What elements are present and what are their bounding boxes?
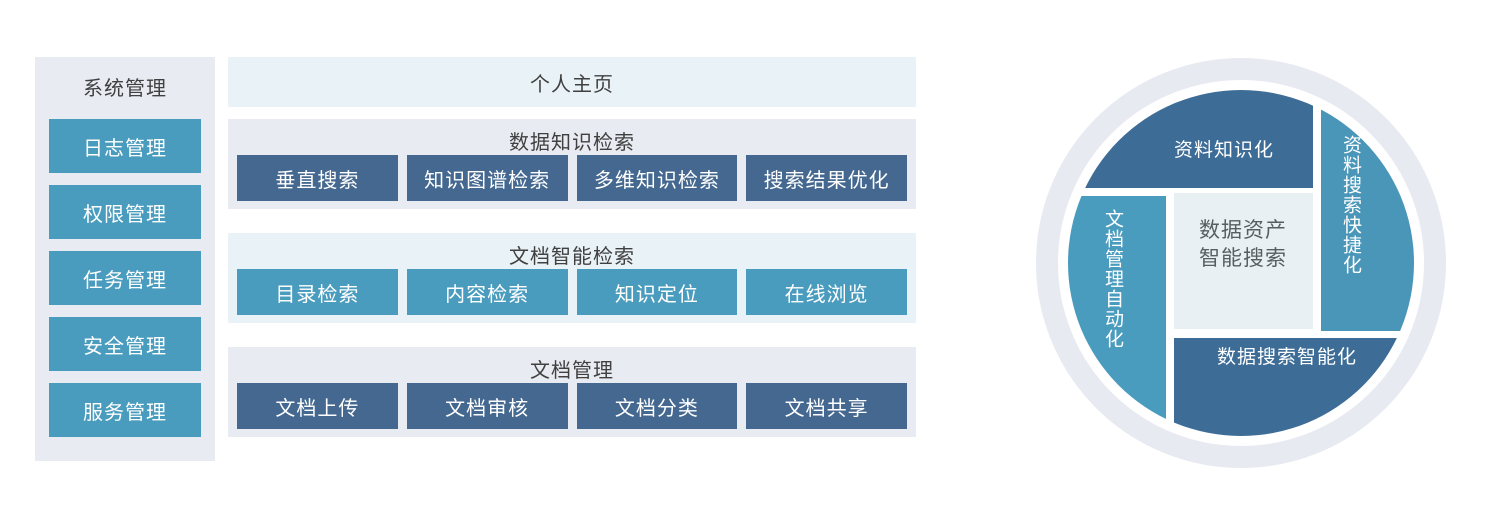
button-content-retrieval[interactable]: 内容检索 [407,269,568,315]
button-knowledge-graph-retrieval[interactable]: 知识图谱检索 [407,155,568,201]
sidebar-item-permission-management[interactable]: 权限管理 [49,185,201,239]
circular-diagram-svg [1035,57,1447,469]
button-document-sharing[interactable]: 文档共享 [746,383,907,429]
button-online-browsing[interactable]: 在线浏览 [746,269,907,315]
button-knowledge-positioning[interactable]: 知识定位 [577,269,738,315]
button-row: 目录检索 内容检索 知识定位 在线浏览 [228,269,916,324]
section-card-document-intelligent-retrieval: 文档智能检索 目录检索 内容检索 知识定位 在线浏览 [228,233,916,323]
button-catalog-retrieval[interactable]: 目录检索 [237,269,398,315]
button-document-classification[interactable]: 文档分类 [577,383,738,429]
sidebar-item-log-management[interactable]: 日志管理 [49,119,201,173]
button-document-review[interactable]: 文档审核 [407,383,568,429]
button-document-upload[interactable]: 文档上传 [237,383,398,429]
button-vertical-search[interactable]: 垂直搜索 [237,155,398,201]
section-card-data-knowledge-retrieval: 数据知识检索 垂直搜索 知识图谱检索 多维知识检索 搜索结果优化 [228,119,916,209]
button-row: 垂直搜索 知识图谱检索 多维知识检索 搜索结果优化 [228,155,916,210]
button-search-result-optimization[interactable]: 搜索结果优化 [746,155,907,201]
section-title: 文档智能检索 [228,240,916,269]
segment-center[interactable] [1174,193,1313,329]
sidebar-item-security-management[interactable]: 安全管理 [49,317,201,371]
sidebar-item-task-management[interactable]: 任务管理 [49,251,201,305]
sidebar-title: 系统管理 [49,71,201,107]
button-row: 文档上传 文档审核 文档分类 文档共享 [228,383,916,438]
sidebar-item-service-management[interactable]: 服务管理 [49,383,201,437]
personal-homepage-banner[interactable]: 个人主页 [228,57,916,107]
section-title: 文档管理 [228,354,916,383]
section-title: 数据知识检索 [228,126,916,155]
button-multidimensional-knowledge-retrieval[interactable]: 多维知识检索 [577,155,738,201]
sidebar-panel: 系统管理 日志管理 权限管理 任务管理 安全管理 服务管理 [35,57,215,461]
circular-diagram: 资料知识化 资料搜索快捷化 文档管理自动化 数据搜索智能化 数据资产 智能搜索 [1035,57,1447,469]
section-card-document-management: 文档管理 文档上传 文档审核 文档分类 文档共享 [228,347,916,437]
personal-homepage-title: 个人主页 [530,68,614,97]
